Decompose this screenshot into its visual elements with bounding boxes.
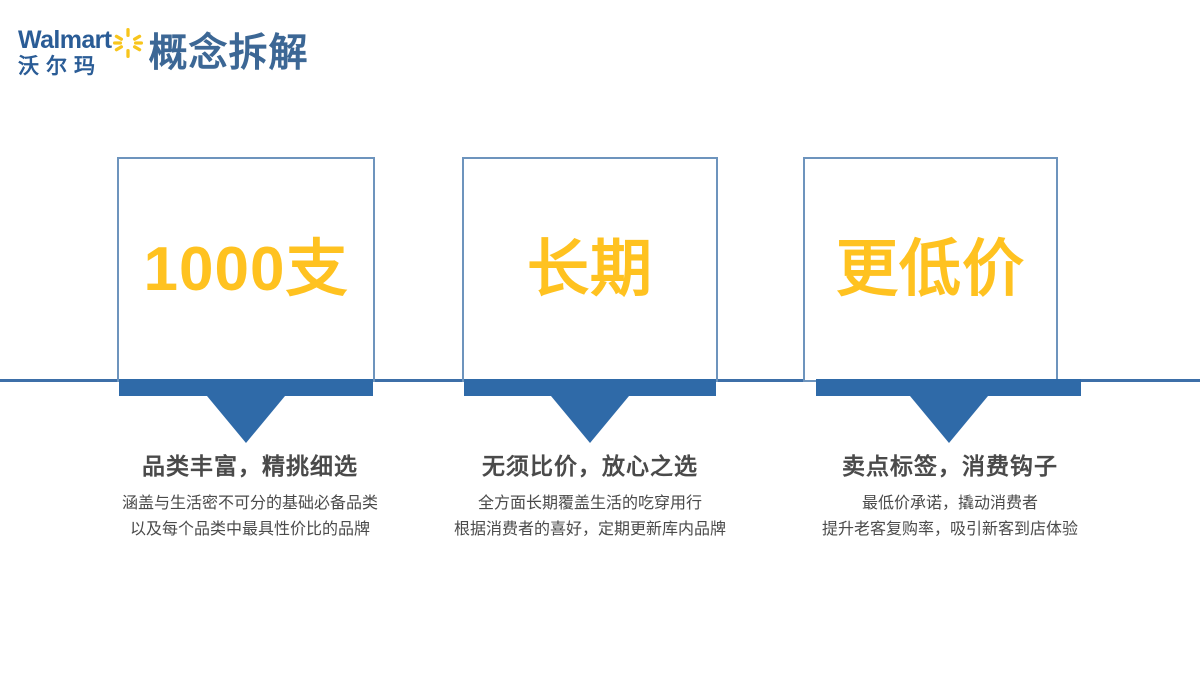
concept-caption-1-lines: 涵盖与生活密不可分的基础必备品类 以及每个品类中最具性价比的品牌 <box>70 491 430 544</box>
concept-card-3: 更低价 <box>803 157 1058 382</box>
concept-card-2-band <box>464 379 716 396</box>
page-title: 概念拆解 <box>149 34 309 73</box>
concept-caption-1-line-2: 以及每个品类中最具性价比的品牌 <box>70 517 430 543</box>
slide-header: Walmart 沃尔玛 概念拆解 <box>18 22 309 82</box>
concept-caption-3: 卖点标签，消费钩子 最低价承诺，撬动消费者 提升老客复购率，吸引新客到店体验 <box>770 452 1130 544</box>
concept-card-1: 1000支 <box>117 157 375 382</box>
down-arrow-icon-1 <box>207 396 285 443</box>
concept-caption-2: 无须比价，放心之选 全方面长期覆盖生活的吃穿用行 根据消费者的喜好，定期更新库内… <box>410 452 770 544</box>
concept-caption-2-line-2: 根据消费者的喜好，定期更新库内品牌 <box>410 517 770 543</box>
concept-caption-3-title: 卖点标签，消费钩子 <box>770 452 1130 482</box>
walmart-spark-icon <box>113 28 143 58</box>
down-arrow-icon-3 <box>910 396 988 443</box>
down-arrow-icon-2 <box>551 396 629 443</box>
concept-card-2-label: 长期 <box>527 239 653 301</box>
concept-caption-3-lines: 最低价承诺，撬动消费者 提升老客复购率，吸引新客到店体验 <box>770 491 1130 544</box>
concept-card-3-band <box>816 379 1081 396</box>
walmart-chinese-name: 沃尔玛 <box>18 56 112 77</box>
walmart-wordmark: Walmart <box>18 28 112 53</box>
concept-caption-3-line-2: 提升老客复购率，吸引新客到店体验 <box>770 517 1130 543</box>
concept-caption-1-title: 品类丰富，精挑细选 <box>70 452 430 482</box>
concept-caption-2-lines: 全方面长期覆盖生活的吃穿用行 根据消费者的喜好，定期更新库内品牌 <box>410 491 770 544</box>
concept-card-1-band <box>119 379 373 396</box>
concept-caption-2-title: 无须比价，放心之选 <box>410 452 770 482</box>
concept-card-1-label: 1000支 <box>144 239 349 301</box>
concept-caption-3-line-1: 最低价承诺，撬动消费者 <box>770 491 1130 517</box>
concept-caption-2-line-1: 全方面长期覆盖生活的吃穿用行 <box>410 491 770 517</box>
walmart-logo: Walmart 沃尔玛 <box>18 28 112 77</box>
concept-caption-1-line-1: 涵盖与生活密不可分的基础必备品类 <box>70 491 430 517</box>
slide-canvas: Walmart 沃尔玛 概念拆解 1000支 <box>0 0 1200 675</box>
concept-card-3-label: 更低价 <box>836 239 1025 301</box>
concept-caption-1: 品类丰富，精挑细选 涵盖与生活密不可分的基础必备品类 以及每个品类中最具性价比的… <box>70 452 430 544</box>
concept-card-2: 长期 <box>462 157 718 382</box>
